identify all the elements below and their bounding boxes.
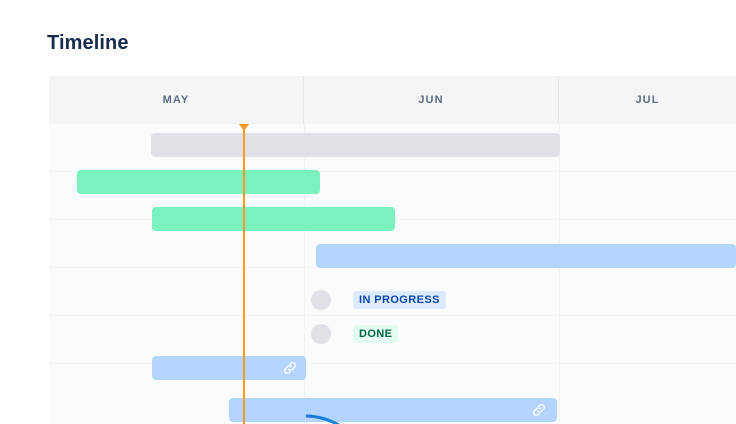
today-marker-line <box>243 124 245 424</box>
timeline-month-header: MAY JUN JUL <box>49 76 736 125</box>
month-label: JUN <box>418 94 443 106</box>
avatar[interactable] <box>311 290 331 310</box>
status-badge: DONE <box>353 325 398 343</box>
month-label: JUL <box>635 94 659 106</box>
link-icon[interactable] <box>531 402 547 418</box>
timeline-bar-blue-3[interactable] <box>229 398 557 422</box>
timeline-bar-green-1[interactable] <box>77 170 320 194</box>
month-column-jun[interactable]: JUN <box>304 76 559 124</box>
month-column-jul[interactable]: JUL <box>559 76 736 124</box>
timeline-grid-body: IN PROGRESS DONE <box>49 124 736 424</box>
timeline-bar-blue-1[interactable] <box>316 244 736 268</box>
timeline-bar-grey-1[interactable] <box>151 133 560 157</box>
status-row-done[interactable]: DONE <box>311 324 398 344</box>
timeline-bar-green-2[interactable] <box>152 207 395 231</box>
today-marker-cap[interactable] <box>239 124 249 131</box>
avatar[interactable] <box>311 324 331 344</box>
timeline-chart: MAY JUN JUL <box>49 76 736 424</box>
page-title: Timeline <box>47 30 129 56</box>
link-icon[interactable] <box>282 360 298 376</box>
timeline-bar-blue-2[interactable] <box>152 356 306 380</box>
month-column-may[interactable]: MAY <box>49 76 304 124</box>
column-divider <box>559 124 560 424</box>
month-label: MAY <box>163 94 190 106</box>
status-badge: IN PROGRESS <box>353 291 446 309</box>
status-row-in-progress[interactable]: IN PROGRESS <box>311 290 446 310</box>
